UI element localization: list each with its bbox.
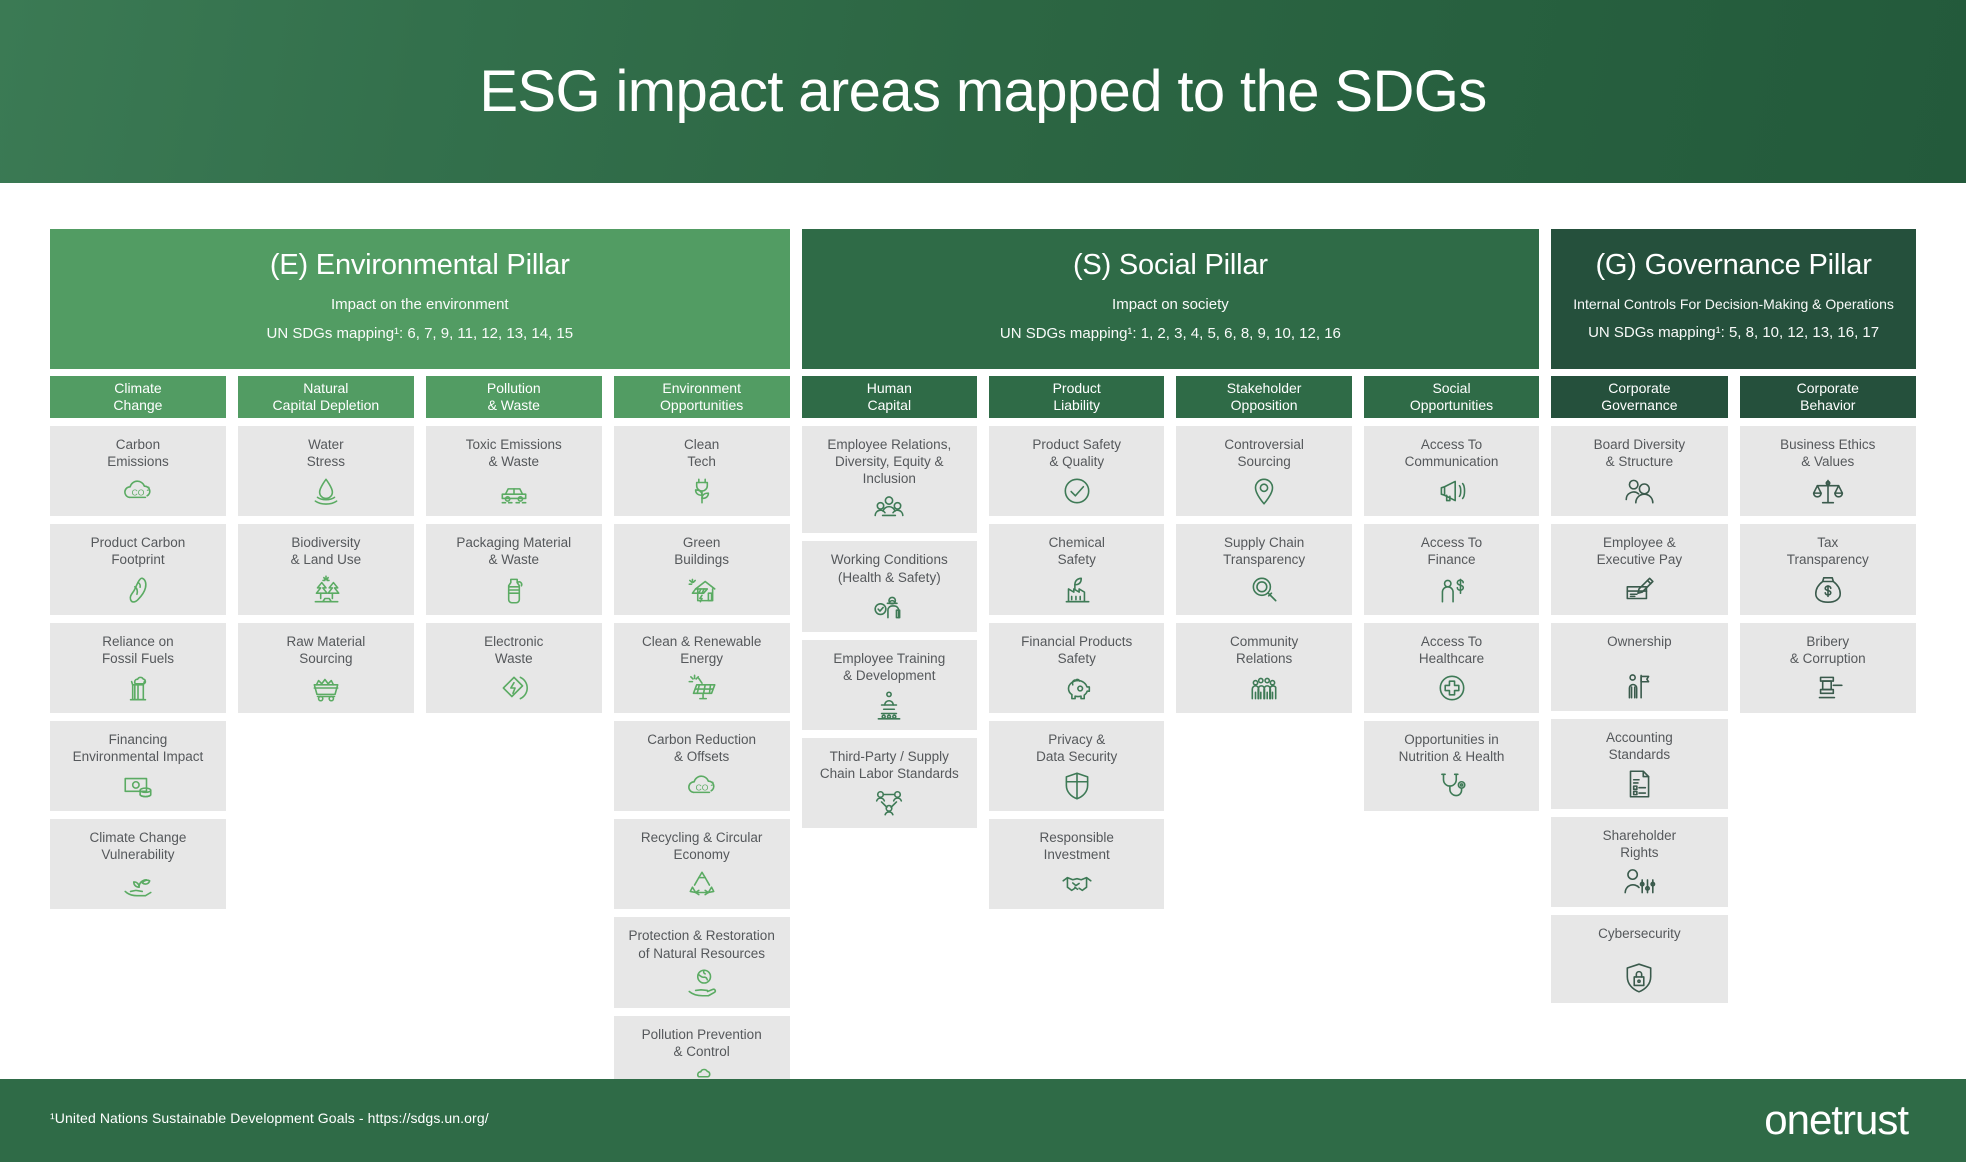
column-header-line: Social bbox=[1432, 380, 1470, 397]
topic-label-line: Sourcing bbox=[299, 651, 352, 666]
page-title: ESG impact areas mapped to the SDGs bbox=[479, 63, 1486, 121]
pillar-banner-environmental: (E) Environmental PillarImpact on the en… bbox=[50, 229, 790, 369]
topic-card-protection-restoration-of-natural-resources[interactable]: Protection & Restorationof Natural Resou… bbox=[614, 917, 790, 1007]
topic-label-line: Carbon Reduction bbox=[647, 732, 756, 747]
column-social-opportunities: SocialOpportunitiesAccess ToCommunicatio… bbox=[1364, 376, 1539, 811]
topic-label: TaxTransparency bbox=[1787, 534, 1869, 568]
topic-card-tax-transparency[interactable]: TaxTransparency bbox=[1740, 524, 1916, 614]
topic-label-line: Privacy & bbox=[1048, 732, 1105, 747]
column-header-line: Corporate bbox=[1797, 380, 1859, 397]
topic-label-line: Buildings bbox=[674, 552, 729, 567]
pillar-columns: HumanCapitalEmployee Relations,Diversity… bbox=[802, 376, 1540, 909]
topic-label: Cybersecurity bbox=[1598, 925, 1681, 942]
column-header-human-capital: HumanCapital bbox=[802, 376, 977, 418]
topic-card-chemical-safety[interactable]: ChemicalSafety bbox=[989, 524, 1164, 614]
topic-label-line: Access To bbox=[1421, 437, 1482, 452]
pillar-columns: ClimateChangeCarbonEmissionsCO2Product C… bbox=[50, 376, 790, 1106]
column-header-social-opportunities: SocialOpportunities bbox=[1364, 376, 1539, 418]
topic-label-line: Cybersecurity bbox=[1598, 926, 1681, 941]
topic-label-line: Pollution Prevention bbox=[642, 1027, 762, 1042]
hand-globe-icon bbox=[685, 966, 719, 1000]
topic-label-line: & Waste bbox=[489, 552, 540, 567]
topic-label-line: Environmental Impact bbox=[73, 749, 204, 764]
column-header-line: Opportunities bbox=[1410, 397, 1493, 414]
column-header-line: Human bbox=[867, 380, 912, 397]
topic-label: Access ToHealthcare bbox=[1419, 633, 1484, 667]
topic-card-biodiversity-land-use[interactable]: Biodiversity& Land Use bbox=[238, 524, 414, 614]
column-natural-capital-depletion: NaturalCapital DepletionWaterStressBiodi… bbox=[238, 376, 414, 713]
scales-icon bbox=[1811, 474, 1845, 508]
pillar-subtitle: Impact on society bbox=[1112, 295, 1229, 315]
smokestack-icon bbox=[121, 671, 155, 705]
megaphone-icon bbox=[1435, 474, 1469, 508]
topic-label-line: Electronic bbox=[484, 634, 543, 649]
column-corporate-governance: CorporateGovernanceBoard Diversity& Stru… bbox=[1551, 376, 1727, 1003]
solar-house-icon bbox=[685, 573, 719, 607]
topic-label-line: Protection & Restoration bbox=[629, 928, 775, 943]
column-header-pollution-waste: Pollution& Waste bbox=[426, 376, 602, 418]
hardhat-worker-icon bbox=[872, 590, 906, 624]
topic-card-financing-environmental-impact[interactable]: FinancingEnvironmental Impact bbox=[50, 721, 226, 811]
check-circle-icon bbox=[1060, 474, 1094, 508]
topic-label: Protection & Restorationof Natural Resou… bbox=[629, 927, 775, 961]
topic-label: ElectronicWaste bbox=[484, 633, 543, 667]
topic-card-recycling-circular-economy[interactable]: Recycling & CircularEconomy bbox=[614, 819, 790, 909]
shield-icon bbox=[1060, 769, 1094, 803]
topic-label-line: Bribery bbox=[1806, 634, 1849, 649]
two-people-icon bbox=[1622, 474, 1656, 508]
topic-label-line: Standards bbox=[1609, 747, 1671, 762]
topic-label-line: Footprint bbox=[111, 552, 164, 567]
column-header-corporate-governance: CorporateGovernance bbox=[1551, 376, 1727, 418]
svg-text:CO: CO bbox=[695, 782, 708, 792]
svg-text:2: 2 bbox=[146, 486, 150, 493]
topic-label-line: & Development bbox=[843, 668, 935, 683]
topic-label: ChemicalSafety bbox=[1049, 534, 1105, 568]
topic-label-line: Responsible bbox=[1040, 830, 1114, 845]
topic-label: Access ToFinance bbox=[1421, 534, 1482, 568]
column-header-line: Corporate bbox=[1608, 380, 1670, 397]
topic-label: Third-Party / SupplyChain Labor Standard… bbox=[820, 748, 959, 782]
medical-cross-icon bbox=[1435, 671, 1469, 705]
pillar-environmental: (E) Environmental PillarImpact on the en… bbox=[50, 229, 790, 1106]
topic-label-line: & Offsets bbox=[674, 749, 729, 764]
column-header-line: Opportunities bbox=[660, 397, 743, 414]
pillar-sdg-mapping: UN SDGs mapping¹: 6, 7, 9, 11, 12, 13, 1… bbox=[267, 324, 574, 344]
topic-label: Product Safety& Quality bbox=[1032, 436, 1121, 470]
svg-text:2: 2 bbox=[710, 781, 714, 788]
topic-label: Toxic Emissions& Waste bbox=[466, 436, 562, 470]
topic-label-line: Community bbox=[1230, 634, 1298, 649]
footprint-icon bbox=[121, 573, 155, 607]
topic-label-line: Third-Party / Supply bbox=[830, 749, 949, 764]
topic-label-line: Working Conditions bbox=[831, 552, 948, 567]
people-group-icon bbox=[872, 491, 906, 525]
topic-label: Raw MaterialSourcing bbox=[286, 633, 365, 667]
e-waste-icon bbox=[497, 671, 531, 705]
topic-label-line: & Control bbox=[674, 1044, 730, 1059]
topic-label-line: & Quality bbox=[1049, 454, 1104, 469]
topic-label: Employee Relations,Diversity, Equity & I… bbox=[808, 436, 971, 487]
topic-card-board-diversity-structure[interactable]: Board Diversity& Structure bbox=[1551, 426, 1727, 516]
topic-label-line: Safety bbox=[1058, 651, 1096, 666]
topic-card-third-party-supply-chain-labor-standards[interactable]: Third-Party / SupplyChain Labor Standard… bbox=[802, 738, 977, 828]
column-header-line: Opposition bbox=[1231, 397, 1298, 414]
topic-label-line: Rights bbox=[1620, 845, 1658, 860]
solar-panel-icon bbox=[685, 671, 719, 705]
gavel-icon bbox=[1811, 671, 1845, 705]
topic-label: WaterStress bbox=[307, 436, 345, 470]
topic-label-line: Stress bbox=[307, 454, 345, 469]
topic-label-line: Product Carbon bbox=[91, 535, 186, 550]
topic-card-access-to-healthcare[interactable]: Access ToHealthcare bbox=[1364, 623, 1539, 713]
page-footer: ¹United Nations Sustainable Development … bbox=[0, 1079, 1966, 1162]
location-pin-icon bbox=[1247, 474, 1281, 508]
pillar-columns: CorporateGovernanceBoard Diversity& Stru… bbox=[1551, 376, 1916, 1003]
topic-label-line: Finance bbox=[1428, 552, 1476, 567]
topic-label-line: Tech bbox=[687, 454, 716, 469]
mine-cart-icon bbox=[309, 671, 343, 705]
topic-label: Product CarbonFootprint bbox=[91, 534, 186, 568]
training-podium-icon bbox=[872, 688, 906, 722]
topic-label: Opportunities inNutrition & Health bbox=[1399, 731, 1505, 765]
topic-card-financial-products-safety[interactable]: Financial ProductsSafety bbox=[989, 623, 1164, 713]
topic-label-line: Product Safety bbox=[1032, 437, 1121, 452]
topic-card-opportunities-in-nutrition-health[interactable]: Opportunities inNutrition & Health bbox=[1364, 721, 1539, 811]
topic-label-line: Shareholder bbox=[1603, 828, 1677, 843]
topic-label: AccountingStandards bbox=[1606, 729, 1673, 763]
column-header-line: Behavior bbox=[1800, 397, 1855, 414]
pillar-name: (G) Governance Pillar bbox=[1595, 250, 1871, 282]
topic-card-controversial-sourcing[interactable]: ControversialSourcing bbox=[1176, 426, 1351, 516]
topic-label-line: Safety bbox=[1058, 552, 1096, 567]
column-header-environment-opportunities: EnvironmentOpportunities bbox=[614, 376, 790, 418]
topic-label: Recycling & CircularEconomy bbox=[641, 829, 763, 863]
topic-label-line: Reliance on bbox=[102, 634, 173, 649]
topic-label-line: Clean & Renewable bbox=[642, 634, 761, 649]
topic-label-line: Nutrition & Health bbox=[1399, 749, 1505, 764]
topic-card-employee-training-development[interactable]: Employee Training& Development bbox=[802, 640, 977, 730]
topic-card-climate-change-vulnerability[interactable]: Climate ChangeVulnerability bbox=[50, 819, 226, 909]
topic-label: ControversialSourcing bbox=[1224, 436, 1304, 470]
pillar-subtitle: Internal Controls For Decision-Making & … bbox=[1573, 295, 1894, 314]
topic-label: Supply ChainTransparency bbox=[1223, 534, 1305, 568]
column-header-line: Governance bbox=[1601, 397, 1677, 414]
topic-label: Employee &Executive Pay bbox=[1597, 534, 1683, 568]
topic-label-line: Energy bbox=[680, 651, 723, 666]
topic-label: Clean & RenewableEnergy bbox=[642, 633, 761, 667]
topic-label-line: Financial Products bbox=[1021, 634, 1132, 649]
pillar-sdg-mapping: UN SDGs mapping¹: 1, 2, 3, 4, 5, 6, 8, 9… bbox=[1000, 324, 1341, 344]
topic-label-line: Water bbox=[308, 437, 344, 452]
topic-card-community-relations[interactable]: CommunityRelations bbox=[1176, 623, 1351, 713]
topic-label: Ownership bbox=[1607, 633, 1672, 650]
topic-label-line: Employee Training bbox=[833, 651, 945, 666]
pillar-name: (E) Environmental Pillar bbox=[270, 250, 570, 282]
shield-lock-icon bbox=[1622, 961, 1656, 995]
topic-card-access-to-finance[interactable]: Access ToFinance bbox=[1364, 524, 1539, 614]
plug-plant-icon bbox=[685, 474, 719, 508]
topic-label: Working Conditions(Health & Safety) bbox=[831, 551, 948, 585]
water-drop-icon bbox=[309, 474, 343, 508]
topic-label-line: & Land Use bbox=[291, 552, 362, 567]
topic-label: FinancingEnvironmental Impact bbox=[73, 731, 204, 765]
handshake-icon bbox=[1060, 867, 1094, 901]
community-people-icon bbox=[1247, 671, 1281, 705]
topic-label: Employee Training& Development bbox=[833, 650, 945, 684]
page-header: ESG impact areas mapped to the SDGs bbox=[0, 0, 1966, 183]
topic-card-bribery-corruption[interactable]: Bribery& Corruption bbox=[1740, 623, 1916, 713]
topic-card-electronic-waste[interactable]: ElectronicWaste bbox=[426, 623, 602, 713]
topic-label-line: Chain Labor Standards bbox=[820, 766, 959, 781]
topic-label-line: Employee Relations, bbox=[827, 437, 951, 452]
topic-label-line: Communication bbox=[1405, 454, 1499, 469]
topic-label-line: Employee & bbox=[1603, 535, 1676, 550]
topic-label-line: Controversial bbox=[1224, 437, 1304, 452]
topic-label: Biodiversity& Land Use bbox=[291, 534, 362, 568]
document-list-icon bbox=[1622, 767, 1656, 801]
car-emissions-icon bbox=[497, 474, 531, 508]
pillar-subtitle: Impact on the environment bbox=[331, 295, 509, 315]
topic-label-line: Executive Pay bbox=[1597, 552, 1683, 567]
trees-icon bbox=[309, 573, 343, 607]
topic-label-line: Access To bbox=[1421, 535, 1482, 550]
topic-label-line: Healthcare bbox=[1419, 651, 1484, 666]
topic-label: Board Diversity& Structure bbox=[1594, 436, 1686, 470]
topic-card-product-carbon-footprint[interactable]: Product CarbonFootprint bbox=[50, 524, 226, 614]
topic-label: Pollution Prevention& Control bbox=[642, 1026, 762, 1060]
column-human-capital: HumanCapitalEmployee Relations,Diversity… bbox=[802, 376, 977, 828]
pillars-board: (E) Environmental PillarImpact on the en… bbox=[0, 183, 1966, 1079]
topic-label-line: Emissions bbox=[107, 454, 169, 469]
topic-label-line: Business Ethics bbox=[1780, 437, 1875, 452]
topic-label: ResponsibleInvestment bbox=[1040, 829, 1114, 863]
cheque-pen-icon bbox=[1622, 573, 1656, 607]
column-header-line: & Waste bbox=[488, 397, 540, 414]
column-header-line: Natural bbox=[303, 380, 348, 397]
topic-card-carbon-emissions[interactable]: CarbonEmissionsCO2 bbox=[50, 426, 226, 516]
magnifier-icon bbox=[1247, 573, 1281, 607]
topic-label-line: Waste bbox=[495, 651, 533, 666]
money-coins-icon bbox=[121, 769, 155, 803]
column-header-climate-change: ClimateChange bbox=[50, 376, 226, 418]
topic-label-line: Carbon bbox=[116, 437, 160, 452]
topic-card-clean-renewable-energy[interactable]: Clean & RenewableEnergy bbox=[614, 623, 790, 713]
topic-label-line: & Corruption bbox=[1790, 651, 1866, 666]
co2-cloud-icon: CO2 bbox=[685, 769, 719, 803]
topic-label: Privacy &Data Security bbox=[1036, 731, 1117, 765]
column-corporate-behavior: CorporateBehaviorBusiness Ethics& Values… bbox=[1740, 376, 1916, 713]
topic-label-line: Toxic Emissions bbox=[466, 437, 562, 452]
topic-card-employee-executive-pay[interactable]: Employee &Executive Pay bbox=[1551, 524, 1727, 614]
topic-card-raw-material-sourcing[interactable]: Raw MaterialSourcing bbox=[238, 623, 414, 713]
topic-label-line: Investment bbox=[1044, 847, 1110, 862]
pillar-governance: (G) Governance PillarInternal Controls F… bbox=[1551, 229, 1916, 1003]
topic-label: Financial ProductsSafety bbox=[1021, 633, 1132, 667]
topic-card-responsible-investment[interactable]: ResponsibleInvestment bbox=[989, 819, 1164, 909]
topic-card-water-stress[interactable]: WaterStress bbox=[238, 426, 414, 516]
topic-label-line: Economy bbox=[674, 847, 730, 862]
topic-card-employee-relations-diversity-equity-inclusion[interactable]: Employee Relations,Diversity, Equity & I… bbox=[802, 426, 977, 533]
topic-label-line: Climate Change bbox=[90, 830, 187, 845]
pillar-social: (S) Social PillarImpact on societyUN SDG… bbox=[802, 229, 1540, 909]
topic-label-line: Recycling & Circular bbox=[641, 830, 763, 845]
column-header-line: Pollution bbox=[487, 380, 541, 397]
topic-label: CommunityRelations bbox=[1230, 633, 1298, 667]
topic-label: Bribery& Corruption bbox=[1790, 633, 1866, 667]
column-header-line: Change bbox=[113, 397, 162, 414]
stethoscope-icon bbox=[1435, 769, 1469, 803]
topic-card-packaging-material-waste[interactable]: Packaging Material& Waste bbox=[426, 524, 602, 614]
topic-label-line: Access To bbox=[1421, 634, 1482, 649]
money-bag-icon bbox=[1811, 573, 1845, 607]
topic-label-line: Vulnerability bbox=[101, 847, 174, 862]
pillar-banner-governance: (G) Governance PillarInternal Controls F… bbox=[1551, 229, 1916, 369]
column-header-corporate-behavior: CorporateBehavior bbox=[1740, 376, 1916, 418]
topic-card-ownership[interactable]: Ownership bbox=[1551, 623, 1727, 711]
topic-label-line: (Health & Safety) bbox=[838, 570, 941, 585]
footnote-text: ¹United Nations Sustainable Development … bbox=[50, 1110, 489, 1126]
column-header-line: Stakeholder bbox=[1227, 380, 1302, 397]
topic-card-toxic-emissions-waste[interactable]: Toxic Emissions& Waste bbox=[426, 426, 602, 516]
topic-label-line: Clean bbox=[684, 437, 719, 452]
column-product-liability: ProductLiabilityProduct Safety& QualityC… bbox=[989, 376, 1164, 909]
column-pollution-waste: Pollution& WasteToxic Emissions& WastePa… bbox=[426, 376, 602, 713]
pillar-sdg-mapping: UN SDGs mapping¹: 5, 8, 10, 12, 13, 16, … bbox=[1588, 323, 1879, 343]
topic-label: Packaging Material& Waste bbox=[456, 534, 571, 568]
topic-label-line: & Waste bbox=[489, 454, 540, 469]
column-header-product-liability: ProductLiability bbox=[989, 376, 1164, 418]
topic-label-line: Ownership bbox=[1607, 634, 1672, 649]
topic-label: Access ToCommunication bbox=[1405, 436, 1499, 470]
topic-label: ShareholderRights bbox=[1603, 827, 1677, 861]
topic-card-access-to-communication[interactable]: Access ToCommunication bbox=[1364, 426, 1539, 516]
topic-card-clean-tech[interactable]: CleanTech bbox=[614, 426, 790, 516]
people-network-icon bbox=[872, 786, 906, 820]
topic-label: CleanTech bbox=[684, 436, 719, 470]
topic-card-product-safety-quality[interactable]: Product Safety& Quality bbox=[989, 426, 1164, 516]
topic-card-working-conditions-health-safety[interactable]: Working Conditions(Health & Safety) bbox=[802, 541, 977, 631]
onetrust-logo: onetrust bbox=[1764, 1096, 1908, 1144]
piggy-bank-icon bbox=[1060, 671, 1094, 705]
topic-label-line: & Values bbox=[1801, 454, 1854, 469]
person-flag-icon bbox=[1622, 669, 1656, 703]
topic-label-line: Data Security bbox=[1036, 749, 1117, 764]
pillar-banner-social: (S) Social PillarImpact on societyUN SDG… bbox=[802, 229, 1540, 369]
topic-label-line: Sourcing bbox=[1237, 454, 1290, 469]
topic-label: Business Ethics& Values bbox=[1780, 436, 1875, 470]
person-dollar-icon bbox=[1435, 573, 1469, 607]
svg-text:CO: CO bbox=[132, 488, 145, 498]
topic-label-line: Tax bbox=[1817, 535, 1838, 550]
column-header-line: Liability bbox=[1053, 397, 1100, 414]
topic-label-line: Fossil Fuels bbox=[102, 651, 174, 666]
hand-sprout-icon bbox=[121, 867, 155, 901]
column-environment-opportunities: EnvironmentOpportunitiesCleanTechGreenBu… bbox=[614, 376, 790, 1106]
plastic-bottle-icon bbox=[497, 573, 531, 607]
column-header-line: Product bbox=[1053, 380, 1101, 397]
topic-label-line: Supply Chain bbox=[1224, 535, 1304, 550]
topic-label: GreenBuildings bbox=[674, 534, 729, 568]
topic-label-line: Opportunities in bbox=[1404, 732, 1499, 747]
topic-label-line: Financing bbox=[109, 732, 168, 747]
topic-card-privacy-data-security[interactable]: Privacy &Data Security bbox=[989, 721, 1164, 811]
topic-card-green-buildings[interactable]: GreenBuildings bbox=[614, 524, 790, 614]
column-header-line: Environment bbox=[662, 380, 741, 397]
pillar-name: (S) Social Pillar bbox=[1073, 250, 1268, 282]
topic-label-line: Biodiversity bbox=[291, 535, 360, 550]
topic-label-line: of Natural Resources bbox=[638, 946, 765, 961]
column-climate-change: ClimateChangeCarbonEmissionsCO2Product C… bbox=[50, 376, 226, 909]
topic-label-line: Accounting bbox=[1606, 730, 1673, 745]
column-header-natural-capital-depletion: NaturalCapital Depletion bbox=[238, 376, 414, 418]
column-header-line: Climate bbox=[114, 380, 161, 397]
person-settings-icon bbox=[1622, 865, 1656, 899]
topic-card-accounting-standards[interactable]: AccountingStandards bbox=[1551, 719, 1727, 809]
topic-label: CarbonEmissions bbox=[107, 436, 169, 470]
topic-label: Climate ChangeVulnerability bbox=[90, 829, 187, 863]
topic-label-line: Relations bbox=[1236, 651, 1292, 666]
column-stakeholder-opposition: StakeholderOppositionControversialSourci… bbox=[1176, 376, 1351, 713]
topic-card-supply-chain-transparency[interactable]: Supply ChainTransparency bbox=[1176, 524, 1351, 614]
topic-label-line: Chemical bbox=[1049, 535, 1105, 550]
topic-card-shareholder-rights[interactable]: ShareholderRights bbox=[1551, 817, 1727, 907]
topic-label-line: Transparency bbox=[1223, 552, 1305, 567]
topic-card-business-ethics-values[interactable]: Business Ethics& Values bbox=[1740, 426, 1916, 516]
topic-card-reliance-on-fossil-fuels[interactable]: Reliance onFossil Fuels bbox=[50, 623, 226, 713]
column-header-line: Capital Depletion bbox=[273, 397, 380, 414]
topic-label-line: Board Diversity bbox=[1594, 437, 1686, 452]
recycle-icon bbox=[685, 867, 719, 901]
topic-label-line: Packaging Material bbox=[456, 535, 571, 550]
topic-label-line: Diversity, Equity & Inclusion bbox=[835, 454, 944, 486]
topic-card-carbon-reduction-offsets[interactable]: Carbon Reduction& OffsetsCO2 bbox=[614, 721, 790, 811]
topic-label: Carbon Reduction& Offsets bbox=[647, 731, 756, 765]
topic-label-line: Raw Material bbox=[286, 634, 365, 649]
co2-cloud-icon: CO2 bbox=[121, 474, 155, 508]
topic-card-cybersecurity[interactable]: Cybersecurity bbox=[1551, 915, 1727, 1003]
green-factory-icon bbox=[1060, 573, 1094, 607]
column-header-line: Capital bbox=[868, 397, 912, 414]
topic-label: Reliance onFossil Fuels bbox=[102, 633, 174, 667]
topic-label-line: Transparency bbox=[1787, 552, 1869, 567]
topic-label-line: & Structure bbox=[1606, 454, 1674, 469]
column-header-stakeholder-opposition: StakeholderOpposition bbox=[1176, 376, 1351, 418]
topic-label-line: Green bbox=[683, 535, 721, 550]
pillars-container: (E) Environmental PillarImpact on the en… bbox=[50, 229, 1916, 1106]
